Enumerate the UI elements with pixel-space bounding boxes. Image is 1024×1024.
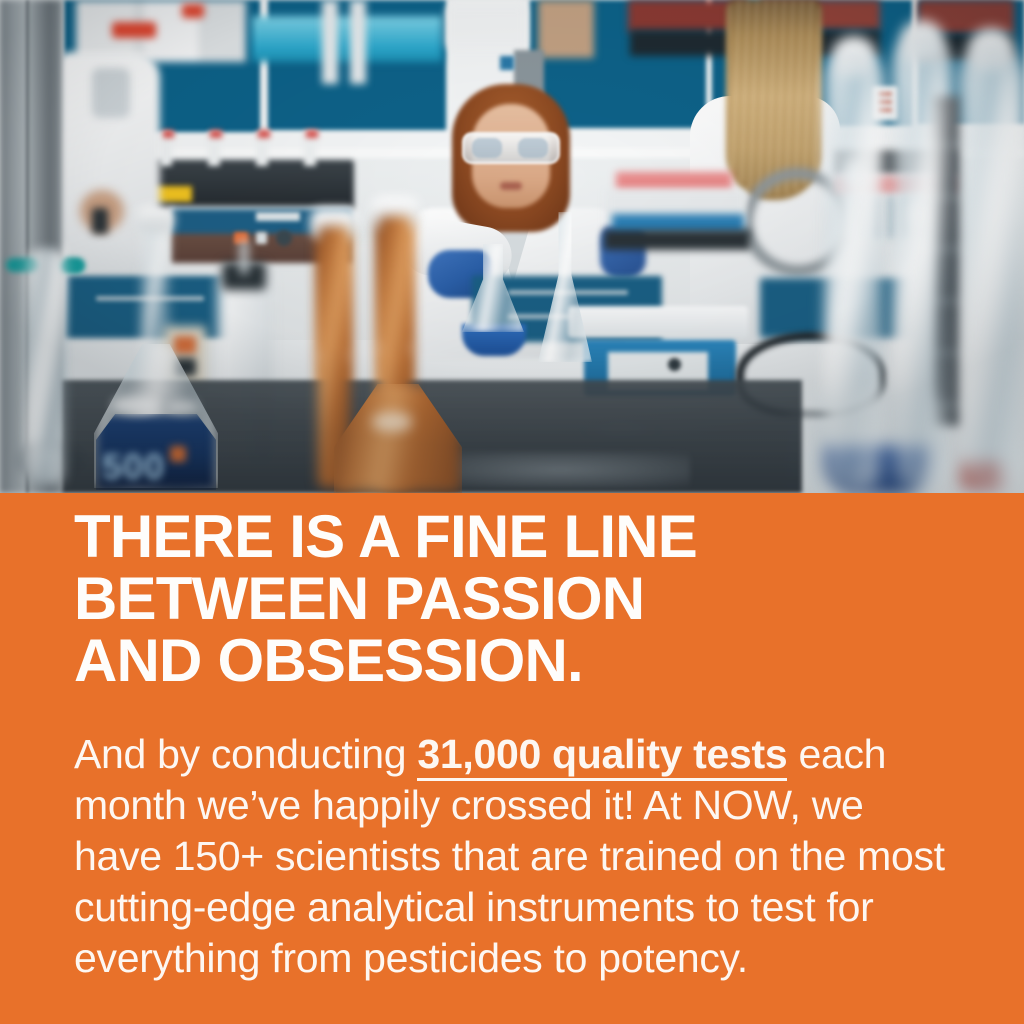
headline-line-3: AND OBSESSION.	[74, 630, 974, 692]
bench-instrument-top-white	[568, 306, 748, 338]
pipette-left-front	[28, 250, 64, 486]
cabinet-label-red-2	[182, 4, 204, 18]
glass-column-right-c-front	[962, 52, 1022, 493]
cabinet-cylinder-b	[350, 0, 366, 84]
headline-line-1: THERE IS A FINE LINE	[74, 506, 974, 568]
instrument-vial-caps	[152, 130, 348, 138]
flask-500-red-mark	[170, 446, 186, 462]
wall-panel-blue	[500, 56, 514, 70]
cabinet-contents-cyan	[252, 16, 442, 62]
volumetric-flask-stopper-left	[136, 206, 174, 232]
body-before: And by conducting	[74, 731, 417, 777]
scientist-left-collar	[92, 68, 130, 118]
instrument-left-rack	[140, 160, 354, 210]
goggles-lens-right	[518, 138, 548, 158]
scientist-left-object-dark	[92, 208, 108, 234]
scientist-center-mouth	[500, 182, 522, 190]
instrument-knob-a	[256, 232, 267, 244]
orange-text-panel: THERE IS A FINE LINE BETWEEN PASSION AND…	[0, 493, 1024, 1024]
cabinet-contents-white	[446, 6, 526, 48]
headline-line-2: BETWEEN PASSION	[74, 568, 974, 630]
laboratory-photo: 500	[0, 0, 1024, 493]
cabinet-contents-box-tan	[538, 0, 594, 58]
flask-500-rim-highlight	[112, 396, 158, 414]
social-graphic-card: 500	[0, 0, 1024, 1024]
cabinet-label-red	[112, 22, 156, 38]
wall-outlet-dots	[878, 92, 892, 114]
flask-500-label: 500	[102, 446, 212, 486]
flask-500-rim-highlight-b	[168, 400, 198, 414]
headline: THERE IS A FINE LINE BETWEEN PASSION AND…	[74, 506, 974, 692]
bench-outlet-socket-orange	[174, 336, 196, 354]
background-instrument-right-dark	[604, 230, 750, 250]
cabinet-cylinder-a	[322, 0, 338, 84]
stat-quality-tests-emphasis: 31,000 quality tests	[417, 731, 787, 781]
instrument-knob-b	[276, 230, 292, 246]
bench-reflection	[430, 452, 690, 488]
amber-flask-bulb-highlight	[372, 412, 412, 432]
background-instrument-right-pink	[616, 172, 732, 190]
instrument-left-display	[256, 212, 300, 221]
goggles-lens-left	[472, 138, 502, 158]
glass-column-right-a-front	[828, 56, 880, 492]
reagent-bottle-stem	[240, 240, 248, 274]
bench-instrument-button	[668, 358, 681, 371]
scientist-right-hair-strands	[728, 0, 820, 196]
body-copy: And by conducting 31,000 quality tests e…	[74, 729, 954, 984]
glass-column-right-b-front	[896, 40, 948, 492]
